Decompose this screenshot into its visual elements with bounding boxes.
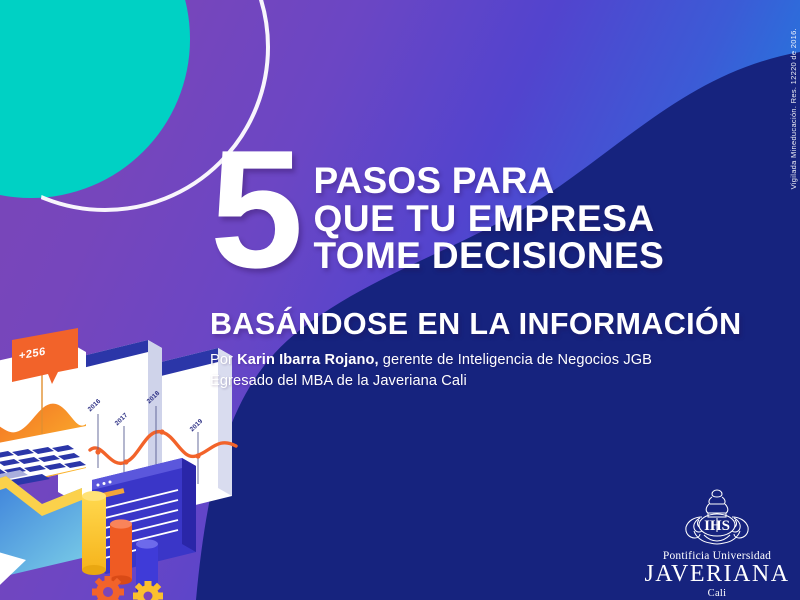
javeriana-logo: IHS Pontificia Universidad JAVERIANA Cal… (642, 487, 792, 599)
byline-line-2: Egresado del MBA de la Javeriana Cali (210, 371, 652, 392)
byline-line-1: Por Karin Ibarra Rojano, gerente de Inte… (210, 350, 652, 371)
cylinder-bar-yellow (82, 491, 106, 575)
logo-line-cali: Cali (642, 588, 792, 599)
headline-line-2: QUE TU EMPRESA (313, 200, 664, 238)
headline-line-3: TOME DECISIONES (313, 237, 664, 275)
legal-vertical-text: Vigilada Mineducación. Res. 12220 de 201… (789, 28, 798, 189)
logo-line-javeriana: JAVERIANA (642, 562, 792, 588)
byline-author: Karin Ibarra Rojano, (237, 352, 378, 368)
byline-block: Por Karin Ibarra Rojano, gerente de Inte… (210, 350, 652, 391)
javeriana-crest-icon: IHS (674, 487, 760, 549)
headline-lines: PASOS PARA QUE TU EMPRESA TOME DECISIONE… (313, 162, 664, 275)
headline-line-4: BASÁNDOSE EN LA INFORMACIÓN (210, 307, 742, 342)
headline-block: 5 PASOS PARA QUE TU EMPRESA TOME DECISIO… (210, 140, 710, 276)
headline-numeral: 5 (210, 142, 297, 276)
byline-role: gerente de Inteligencia de Negocios JGB (379, 352, 652, 368)
headline-row: 5 PASOS PARA QUE TU EMPRESA TOME DECISIO… (210, 140, 710, 276)
cylinder-bar-orange (110, 519, 132, 584)
poster-canvas: Vigilada Mineducación. Res. 12220 de 201… (0, 0, 800, 600)
byline-prefix: Por (210, 352, 237, 368)
headline-line-1: PASOS PARA (313, 162, 664, 200)
